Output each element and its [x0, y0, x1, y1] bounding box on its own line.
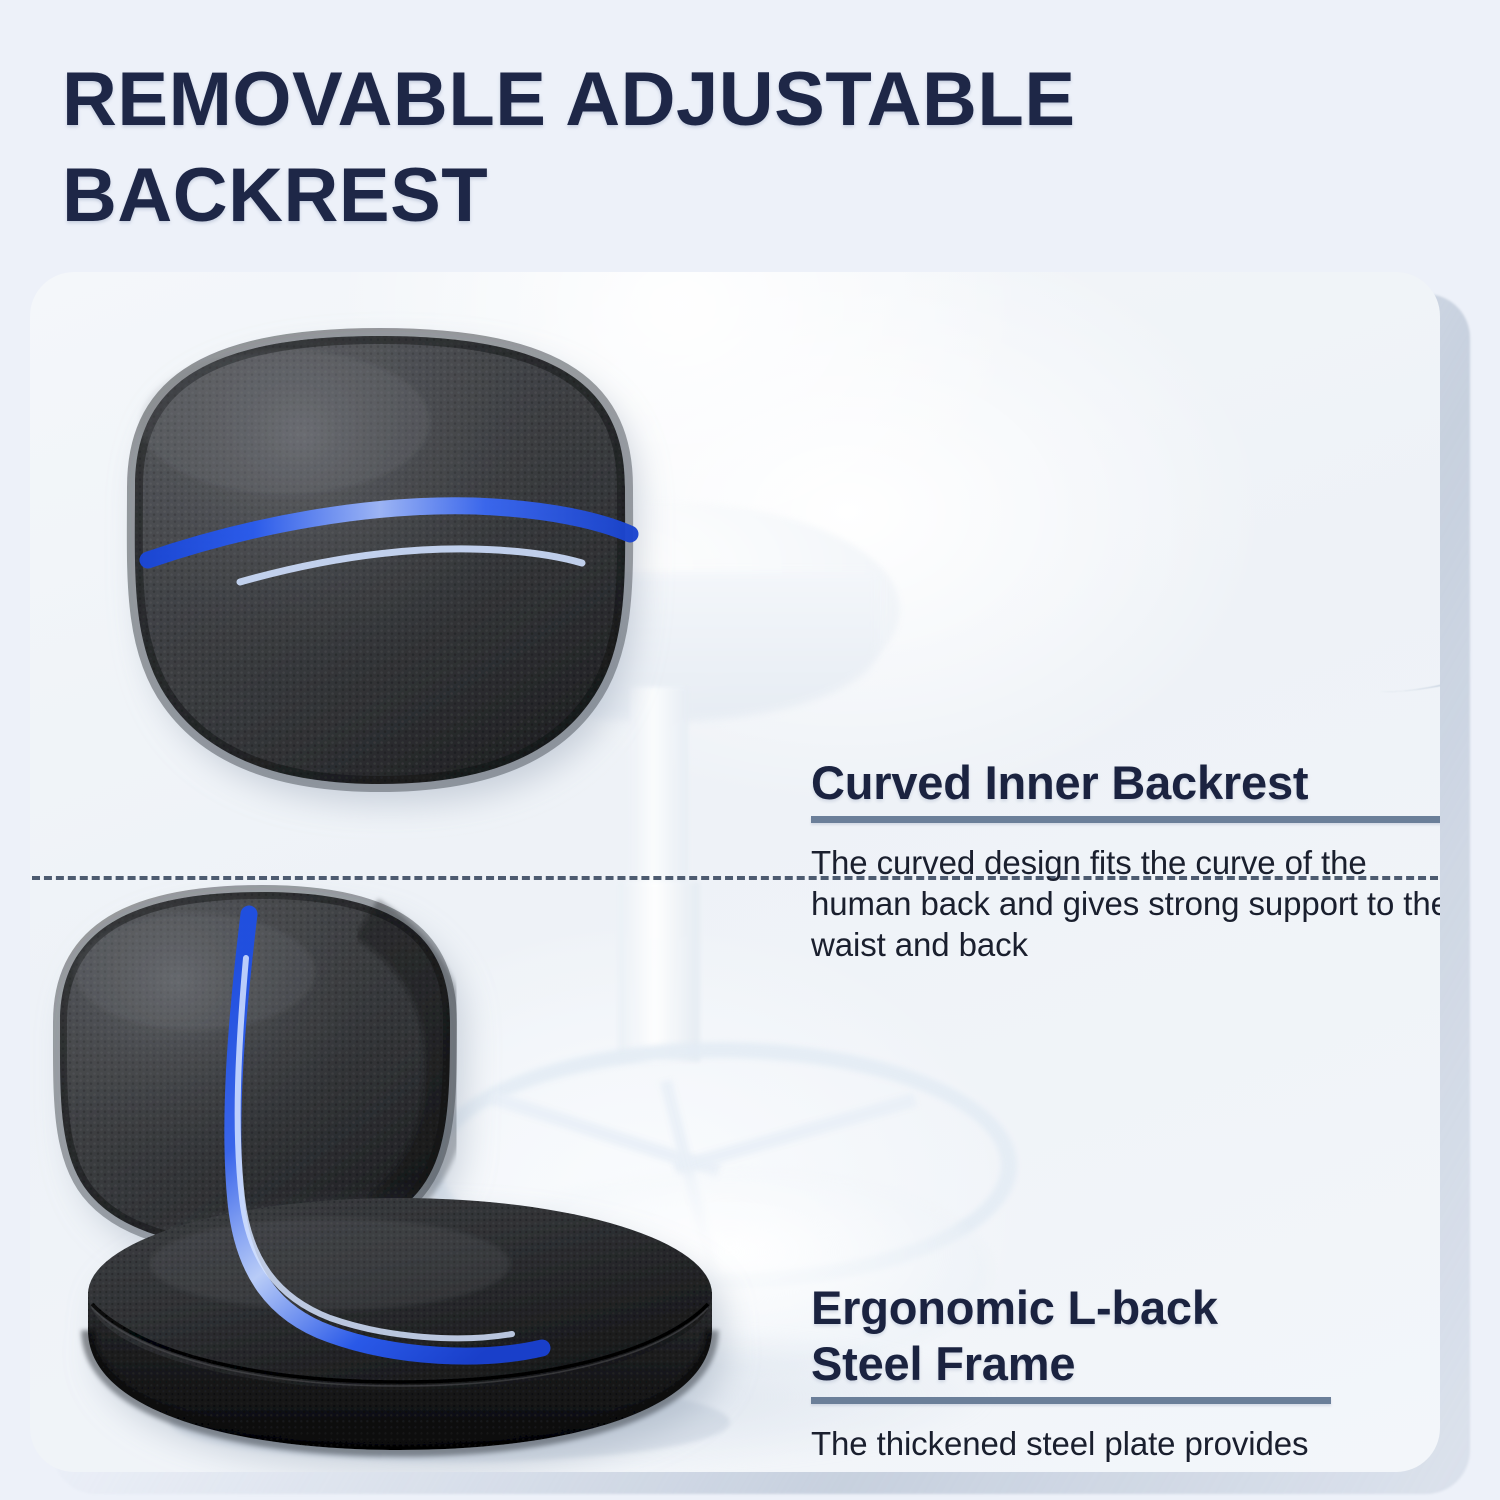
feature-2-heading-line-2: Steel Frame: [811, 1337, 1075, 1390]
chair-side-illustration: [30, 862, 830, 1472]
page-title: REMOVABLE ADJUSTABLE BACKREST: [62, 52, 1342, 244]
feature-2-body: The thickened steel plate provides stron…: [811, 1423, 1371, 1472]
feature-block-curved-inner-backrest: Curved Inner Backrest The curved design …: [811, 755, 1440, 965]
feature-1-underline: [811, 816, 1440, 823]
page-title-line-2: BACKREST: [62, 148, 1342, 244]
feature-2-heading-line-1: Ergonomic L-back: [811, 1281, 1218, 1334]
feature-block-ergonomic-l-back-steel-frame: Ergonomic L-backSteel Frame The thickene…: [811, 1280, 1371, 1472]
backrest-cushion-illustration: [30, 272, 790, 852]
round-seat-cushion: [88, 1198, 712, 1450]
feature-1-body: The curved design fits the curve of the …: [811, 842, 1440, 965]
feature-1-heading: Curved Inner Backrest: [811, 755, 1440, 811]
feature-2-underline: [811, 1397, 1331, 1404]
backrest-pad: [135, 336, 625, 784]
feature-2-heading: Ergonomic L-backSteel Frame: [811, 1280, 1371, 1392]
content-panel: Curved Inner Backrest The curved design …: [30, 272, 1440, 1472]
decorative-arc: [1210, 272, 1440, 692]
backrest-pad: [60, 892, 450, 1248]
page-title-line-1: REMOVABLE ADJUSTABLE: [62, 52, 1342, 148]
